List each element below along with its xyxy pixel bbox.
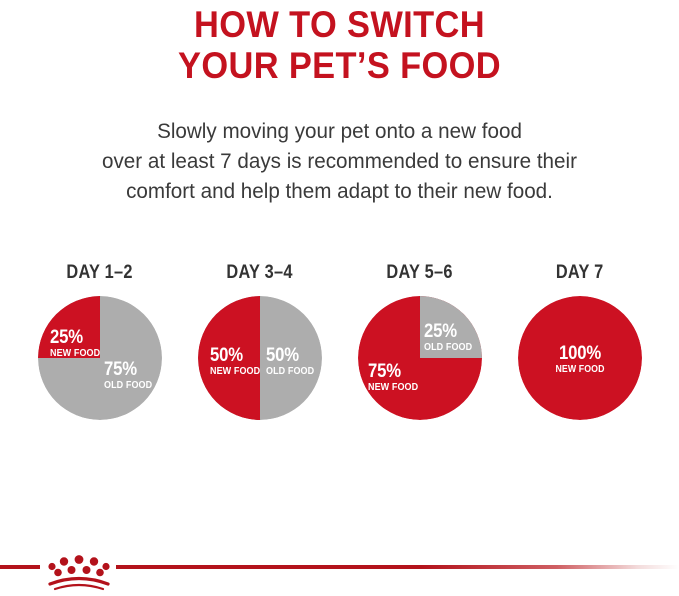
day-label-3: DAY 5–6 [386,262,452,284]
pie-label-new-food-who-3: NEW FOOD [368,383,418,393]
pie-label-new-food-who-1: NEW FOOD [50,349,100,359]
pie-label-new-food-pct-1: 25% [50,328,99,347]
pie-label-old-food-2: 50% OLD FOOD [266,346,320,377]
pie-label-old-food-pct-2: 50% [266,346,313,365]
crown-icon [44,551,114,591]
infographic-page: HOW TO SWITCH YOUR PET’S FOOD Slowly mov… [0,0,679,594]
page-title: HOW TO SWITCH YOUR PET’S FOOD [24,4,655,86]
pie-label-old-food-pct-1: 75% [104,360,151,379]
pie-chart-day-5-6: DAY 5–6 25% OLD FOOD 75% NEW FOOD [340,262,500,420]
pie-label-new-food-pct-3: 75% [368,362,417,381]
pie-wrap-4: 100% NEW FOOD [518,296,642,420]
day-label-2: DAY 3–4 [226,262,292,284]
pie-wrap-2: 50% NEW FOOD 50% OLD FOOD [198,296,322,420]
pie-label-new-food-1: 25% NEW FOOD [50,328,106,359]
day-label-4: DAY 7 [556,262,604,284]
pie-label-new-food-3: 75% NEW FOOD [368,362,424,393]
pie-chart-day-1-2: DAY 1–2 25% NEW FOOD 75% OLD FOOD [20,262,180,420]
page-title-line-2: YOUR PET’S FOOD [24,45,655,86]
intro-paragraph: Slowly moving your pet onto a new food o… [14,116,666,206]
pie-label-old-food-pct-3: 25% [424,322,471,341]
pie-svg-3 [358,296,482,420]
pie-label-new-food-pct-2: 50% [210,346,259,365]
pie-label-old-food-who-3: OLD FOOD [424,343,472,353]
intro-paragraph-line-3: comfort and help them adapt to their new… [14,176,666,206]
intro-paragraph-line-2: over at least 7 days is recommended to e… [14,146,666,176]
pie-label-old-food-3: 25% OLD FOOD [424,322,478,353]
pie-chart-day-7: DAY 7 100% NEW FOOD [500,262,660,420]
pie-label-new-food-who-4: NEW FOOD [525,365,634,375]
pie-wrap-1: 25% NEW FOOD 75% OLD FOOD [38,296,162,420]
pie-wrap-3: 25% OLD FOOD 75% NEW FOOD [358,296,482,420]
pie-label-old-food-who-1: OLD FOOD [104,381,152,391]
pie-label-new-food-pct-4: 100% [525,344,634,363]
pie-label-old-food-who-2: OLD FOOD [266,367,314,377]
pie-label-new-food-4: 100% NEW FOOD [518,344,642,375]
pie-label-old-food-1: 75% OLD FOOD [104,360,158,391]
pie-chart-row: DAY 1–2 25% NEW FOOD 75% OLD FOOD [0,262,679,442]
pie-label-new-food-who-2: NEW FOOD [210,367,260,377]
pie-graphic-3 [358,296,482,420]
pie-chart-day-3-4: DAY 3–4 50% NEW FOOD 50% OLD FOOD [180,262,340,420]
pie-label-new-food-2: 50% NEW FOOD [210,346,266,377]
day-label-1: DAY 1–2 [66,262,132,284]
intro-paragraph-line-1: Slowly moving your pet onto a new food [14,116,666,146]
page-title-line-1: HOW TO SWITCH [24,4,655,45]
royal-canin-crown-logo [44,551,114,591]
